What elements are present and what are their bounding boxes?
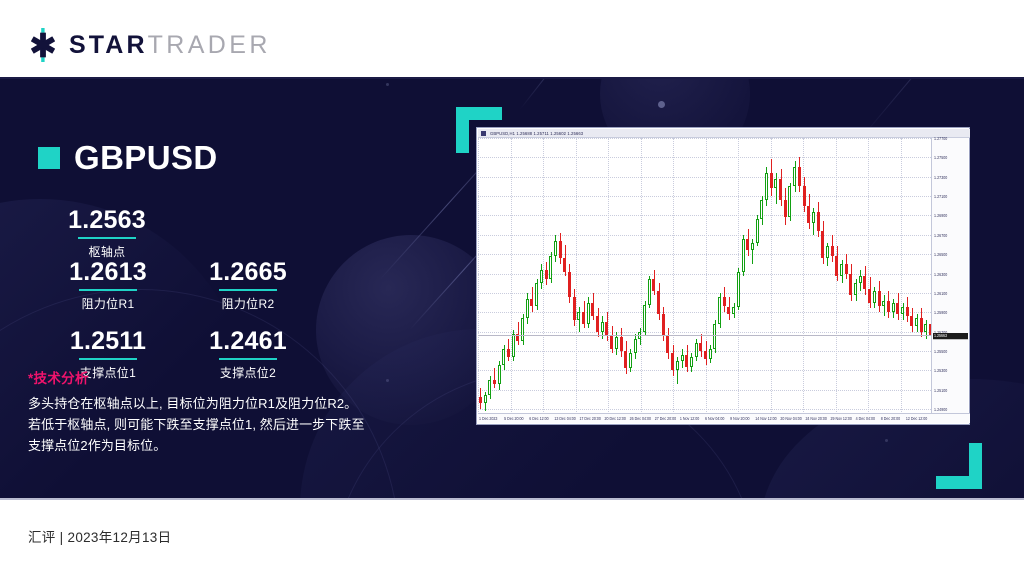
- price-axis-tick: 1.26300: [934, 272, 947, 277]
- candle-body: [793, 167, 796, 186]
- candle-body: [629, 353, 632, 368]
- candle-body: [788, 186, 791, 217]
- price-axis-tick: 1.26900: [934, 213, 947, 218]
- info-panel: GBPUSD 1.2563 枢轴点 1.2613 阻力位R1 1.2665 阻力…: [0, 79, 430, 498]
- current-price-line: [478, 335, 933, 336]
- candle-body: [601, 322, 604, 332]
- candle-body: [615, 337, 618, 349]
- time-axis-tick: 29 Nov 12:00: [831, 416, 852, 421]
- candle-body: [901, 307, 904, 315]
- candle-body: [554, 241, 557, 256]
- candle-body: [732, 307, 735, 315]
- price-axis-tick: 1.27500: [934, 155, 947, 160]
- technical-analysis-title: *技术分析: [28, 367, 418, 387]
- price-axis-tick: 1.27700: [934, 136, 947, 141]
- star-asterisk-icon: [26, 28, 60, 62]
- time-axis-tick: 20 Dec 12:00: [605, 416, 626, 421]
- level-resistance-1: 1.2613 阻力位R1: [38, 259, 178, 312]
- candle-body: [634, 339, 637, 353]
- main-stage: GBPUSD 1.2563 枢轴点 1.2613 阻力位R1 1.2665 阻力…: [0, 79, 1024, 498]
- footer-caption: 汇评 | 2023年12月13日: [28, 526, 171, 546]
- candle-body: [488, 380, 491, 395]
- time-axis-tick: 13 Dec 04:00: [554, 416, 575, 421]
- current-price-label: 1.25663: [933, 333, 968, 339]
- candle-body: [676, 361, 679, 371]
- candle-body: [831, 246, 834, 256]
- chart-window-titlebar: GBPUSD,H1 1.25688 1.25711 1.25602 1.2566…: [478, 129, 970, 138]
- candle-body: [779, 179, 782, 200]
- candle-body: [479, 397, 482, 404]
- grid-line-vertical: [868, 138, 869, 414]
- square-marker-icon: [38, 147, 60, 169]
- candle-body: [699, 343, 702, 351]
- candle-body: [652, 279, 655, 291]
- candle-wick: [494, 368, 495, 387]
- candle-body: [915, 318, 918, 326]
- candle-body: [591, 303, 594, 317]
- level-underline: [219, 358, 277, 360]
- candle-body: [540, 270, 543, 284]
- candle-body: [605, 322, 608, 336]
- candle-body: [892, 303, 895, 313]
- candle-body: [648, 279, 651, 304]
- chart-zone: GBPUSD,H1 1.25688 1.25711 1.25602 1.2566…: [440, 107, 1000, 477]
- candle-body: [610, 336, 613, 350]
- price-axis-tick: 1.24900: [934, 407, 947, 412]
- candle-body: [873, 291, 876, 303]
- candle-body: [484, 395, 487, 404]
- time-axis-tick: 8 Dec 20:00: [881, 416, 900, 421]
- candle-body: [817, 212, 820, 231]
- price-axis-tick: 1.25500: [934, 349, 947, 354]
- level-value: 1.2511: [38, 328, 178, 355]
- candle-body: [845, 264, 848, 274]
- candle-body: [624, 351, 627, 368]
- candle-body: [924, 324, 927, 332]
- candle-body: [859, 276, 862, 284]
- candle-body: [690, 357, 693, 367]
- time-axis-tick: 27 Dec 20:00: [655, 416, 676, 421]
- candle-body: [507, 349, 510, 357]
- candle-body: [868, 289, 871, 303]
- candle-body: [910, 316, 913, 326]
- grid-line-vertical: [901, 138, 902, 414]
- analysis-line-3: 支撑点位2作为目标位。: [28, 435, 418, 456]
- candle-body: [737, 272, 740, 307]
- grid-line-vertical: [511, 138, 512, 414]
- level-value: 1.2461: [178, 328, 318, 355]
- candle-body: [887, 301, 890, 313]
- price-axis-tick: 1.26500: [934, 252, 947, 257]
- page-footer: 汇评 | 2023年12月13日: [0, 498, 1024, 576]
- candle-body: [812, 212, 815, 224]
- candle-body: [559, 241, 562, 258]
- grid-line-vertical: [641, 138, 642, 414]
- instrument-title: GBPUSD: [38, 139, 218, 177]
- time-axis-tick: 26 Dec 04:00: [630, 416, 651, 421]
- candle-body: [760, 200, 763, 219]
- candle-body: [821, 231, 824, 258]
- candle-body: [502, 349, 505, 364]
- level-value: 1.2665: [178, 259, 318, 286]
- chart-window-icon: [481, 131, 486, 136]
- time-axis-tick: 6 Dec 12:00: [529, 416, 548, 421]
- level-underline: [219, 289, 277, 291]
- chart-window-title: GBPUSD,H1 1.25688 1.25711 1.25602 1.2566…: [490, 130, 583, 136]
- price-axis-tick: 1.27100: [934, 194, 947, 199]
- time-axis-tick: 6 Nov 04:00: [705, 416, 724, 421]
- candle-body: [493, 380, 496, 384]
- brand-logo[interactable]: STAR TRADER: [26, 28, 271, 62]
- time-axis: 1 Dec 20235 Dec 20:006 Dec 12:0013 Dec 0…: [478, 413, 970, 423]
- candle-body: [549, 256, 552, 279]
- time-axis-tick: 17 Dec 20:00: [579, 416, 600, 421]
- pivot-underline: [78, 237, 136, 239]
- candle-body: [742, 239, 745, 272]
- time-axis-tick: 14 Nov 12:00: [755, 416, 776, 421]
- candle-body: [643, 305, 646, 332]
- candle-body: [713, 324, 716, 349]
- level-underline: [79, 289, 137, 291]
- candle-body: [568, 272, 571, 297]
- price-axis-tick: 1.25900: [934, 310, 947, 315]
- candle-body: [620, 337, 623, 351]
- footer-divider: [0, 498, 1024, 500]
- candle-body: [512, 334, 515, 357]
- candle-body: [545, 270, 548, 280]
- candle-body: [896, 303, 899, 315]
- decor-streak-1: [520, 79, 613, 110]
- page-title: GBPUSD: [74, 139, 218, 177]
- candle-body: [746, 239, 749, 251]
- candle-body: [685, 355, 688, 367]
- candle-body: [854, 283, 857, 295]
- candle-body: [704, 351, 707, 359]
- candle-body: [765, 173, 768, 200]
- candle-body: [577, 312, 580, 320]
- candle-body: [727, 307, 730, 315]
- level-label: 阻力位R1: [38, 295, 178, 312]
- candle-body: [657, 291, 660, 314]
- candlestick-plot[interactable]: [478, 138, 933, 414]
- time-axis-tick: 20 Nov 04:00: [780, 416, 801, 421]
- trading-chart-window[interactable]: GBPUSD,H1 1.25688 1.25711 1.25602 1.2566…: [476, 127, 970, 425]
- level-label: 阻力位R2: [178, 295, 318, 312]
- level-underline: [79, 358, 137, 360]
- candle-body: [906, 307, 909, 317]
- candle-body: [681, 355, 684, 361]
- grid-line-vertical: [478, 138, 479, 414]
- candle-body: [920, 318, 923, 332]
- candle-body: [662, 314, 665, 335]
- candle-body: [526, 299, 529, 318]
- time-axis-tick: 1 Nov 12:00: [680, 416, 699, 421]
- analysis-line-2: 若低于枢轴点, 则可能下跌至支撑点位1, 然后进一步下跌至: [28, 414, 418, 435]
- candle-wick: [776, 173, 777, 204]
- candle-body: [878, 291, 881, 306]
- price-axis-tick: 1.26100: [934, 291, 947, 296]
- technical-analysis-block: *技术分析 多头持仓在枢轴点以上, 目标位为阻力位R1及阻力位R2。 若低于枢轴…: [28, 367, 418, 456]
- candle-body: [882, 301, 885, 307]
- logo-text-star: STAR: [69, 31, 148, 60]
- candle-body: [798, 167, 801, 186]
- candle-body: [756, 219, 759, 242]
- level-value: 1.2613: [38, 259, 178, 286]
- levels-grid: 1.2613 阻力位R1 1.2665 阻力位R2 1.2511 支撑点位1 1…: [38, 259, 318, 381]
- candle-body: [723, 297, 726, 307]
- candle-body: [849, 274, 852, 295]
- time-axis-tick: 5 Dec 20:00: [504, 416, 523, 421]
- time-axis-tick: 1 Dec 2023: [479, 416, 497, 421]
- candle-body: [573, 297, 576, 320]
- time-axis-tick: 9 Nov 20:00: [730, 416, 749, 421]
- candle-body: [863, 276, 866, 290]
- page-header: STAR TRADER: [0, 0, 1024, 78]
- candle-body: [535, 283, 538, 306]
- candle-body: [563, 258, 566, 272]
- candle-body: [751, 243, 754, 251]
- price-axis: 1.277001.275001.273001.271001.269001.267…: [931, 138, 968, 414]
- level-resistance-2: 1.2665 阻力位R2: [178, 259, 318, 312]
- candle-body: [521, 318, 524, 341]
- candle-body: [840, 264, 843, 276]
- grid-line-vertical: [706, 138, 707, 414]
- grid-line-vertical: [608, 138, 609, 414]
- candle-body: [695, 343, 698, 357]
- candle-body: [807, 206, 810, 223]
- price-axis-tick: 1.25300: [934, 368, 947, 373]
- corner-bracket-bottom-right-icon: [936, 443, 982, 489]
- price-axis-tick: 1.25100: [934, 388, 947, 393]
- candle-body: [587, 303, 590, 324]
- candle-body: [671, 353, 674, 370]
- candle-body: [709, 349, 712, 359]
- candle-body: [530, 299, 533, 307]
- candle-body: [774, 179, 777, 189]
- price-axis-tick: 1.26700: [934, 233, 947, 238]
- candle-body: [596, 316, 599, 331]
- price-axis-tick: 1.27300: [934, 175, 947, 180]
- time-axis-tick: 12 Dec 12:00: [906, 416, 927, 421]
- candle-body: [582, 312, 585, 324]
- time-axis-tick: 24 Nov 20:00: [805, 416, 826, 421]
- candle-body: [498, 365, 501, 384]
- candle-body: [718, 297, 721, 324]
- logo-text-trader: TRADER: [148, 31, 271, 60]
- analysis-line-1: 多头持仓在枢轴点以上, 目标位为阻力位R1及阻力位R2。: [28, 393, 418, 414]
- pivot-value: 1.2563: [52, 207, 162, 234]
- candle-body: [826, 246, 829, 258]
- grid-line-vertical: [576, 138, 577, 414]
- candle-body: [803, 186, 806, 205]
- candle-body: [784, 200, 787, 217]
- candle-body: [666, 336, 669, 353]
- pivot-point-block: 1.2563 枢轴点: [52, 207, 162, 260]
- candle-body: [770, 173, 773, 188]
- candle-body: [835, 256, 838, 275]
- time-axis-tick: 4 Dec 04:00: [856, 416, 875, 421]
